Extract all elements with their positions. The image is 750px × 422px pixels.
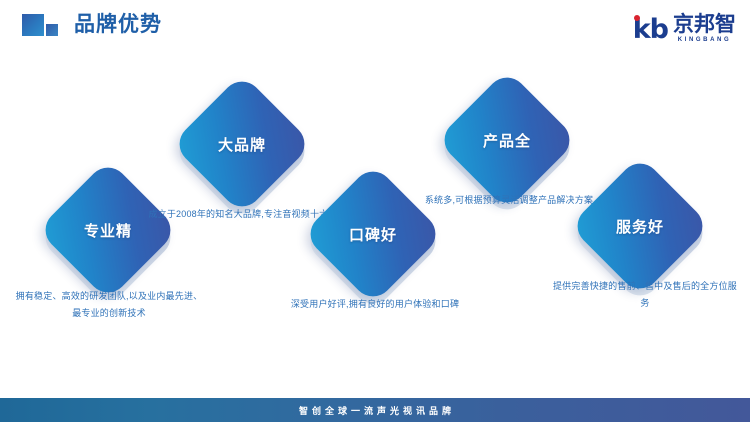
diamond-shape-icon bbox=[569, 155, 710, 296]
advantage-desc-4: 系统多,可根据预算灵活调整产品解决方案 bbox=[414, 192, 604, 209]
slide-header: 品牌优势 kb 京邦智 KINGBANG bbox=[0, 0, 750, 58]
diamond-2[interactable]: 大品牌 bbox=[192, 94, 292, 194]
footer-slogan: 智创全球一流声光视讯品牌 bbox=[295, 404, 455, 417]
logo-red-dot-icon bbox=[634, 15, 640, 21]
advantage-desc-3: 深受用户好评,拥有良好的用户体验和口碑 bbox=[280, 296, 470, 313]
slide-footer: 智创全球一流声光视讯品牌 bbox=[0, 398, 750, 422]
logo-english-name: KINGBANG bbox=[673, 36, 736, 44]
advantage-desc-2: 成立于2008年的知名大品牌,专注音视频十六年 bbox=[148, 206, 338, 223]
diamond-1[interactable]: 专业精 bbox=[58, 180, 158, 280]
advantages-stage: 专业精 拥有稳定、高效的研发团队,以及业内最先进、最专业的创新技术 大品牌 成立… bbox=[0, 58, 750, 388]
diamond-shape-icon bbox=[302, 163, 443, 304]
diamond-4[interactable]: 产品全 bbox=[457, 90, 557, 190]
advantage-desc-1: 拥有稳定、高效的研发团队,以及业内最先进、最专业的创新技术 bbox=[14, 288, 204, 322]
title-group: 品牌优势 bbox=[22, 14, 162, 36]
diamond-shape-icon bbox=[436, 69, 577, 210]
diamond-shape-icon bbox=[171, 73, 312, 214]
square-marker-large-icon bbox=[22, 14, 44, 36]
logo-mark-icon: kb bbox=[633, 16, 668, 43]
diamond-3[interactable]: 口碑好 bbox=[323, 184, 423, 284]
page-title: 品牌优势 bbox=[74, 14, 162, 36]
brand-logo: kb 京邦智 KINGBANG bbox=[633, 13, 736, 45]
logo-text-block: 京邦智 KINGBANG bbox=[673, 14, 736, 44]
advantage-desc-5: 提供完善快捷的售前、售中及售后的全方位服务 bbox=[550, 278, 740, 312]
logo-chinese-name: 京邦智 bbox=[673, 14, 736, 35]
diamond-shape-icon bbox=[37, 159, 178, 300]
diamond-5[interactable]: 服务好 bbox=[590, 176, 690, 276]
square-marker-small-icon bbox=[46, 24, 58, 36]
